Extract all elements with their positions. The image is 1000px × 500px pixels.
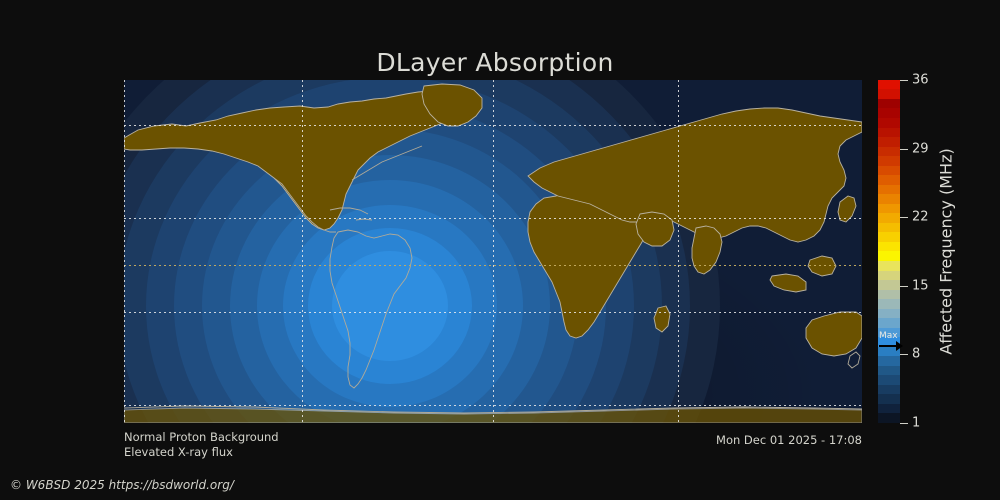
colorbar-segment: [878, 156, 900, 166]
colorbar-tick-label: 29: [912, 141, 929, 156]
world-map-panel[interactable]: [124, 80, 862, 423]
colorbar-axis-title-text: Affected Frequency (MHz): [937, 148, 956, 354]
colorbar-tick: [900, 286, 908, 287]
colorbar-tick-label: 1: [912, 416, 920, 431]
colorbar-tick-label: 15: [912, 278, 929, 293]
colorbar-segment: [878, 185, 900, 195]
colorbar-segment: [878, 137, 900, 147]
colorbar-segment: [878, 318, 900, 328]
colorbar-segment: [878, 108, 900, 118]
colorbar-segment: [878, 356, 900, 366]
colorbar-segment: [878, 166, 900, 176]
colorbar-segment: [878, 89, 900, 99]
colorbar-segment: [878, 366, 900, 376]
colorbar-segment: [878, 271, 900, 281]
colorbar-tick: [900, 149, 908, 150]
page-root: DLayer Absorption: [0, 0, 1000, 500]
copyright-notice: © W6BSD 2025 https://bsdworld.org/: [10, 478, 234, 492]
colorbar-gradient: [878, 80, 900, 423]
colorbar-tick-label: 22: [912, 210, 929, 225]
colorbar-axis-title: Affected Frequency (MHz): [934, 80, 958, 423]
colorbar-segment: [878, 261, 900, 271]
colorbar-tick: [900, 217, 908, 218]
colorbar-segment: [878, 80, 900, 90]
colorbar-segment: [878, 347, 900, 357]
colorbar-segment: [878, 213, 900, 223]
colorbar[interactable]: 3629221581: [878, 80, 900, 423]
colorbar-segment: [878, 128, 900, 138]
timestamp-label: Mon Dec 01 2025 - 17:08: [716, 433, 862, 447]
status-proton-background: Normal Proton Background: [124, 430, 279, 444]
colorbar-tick: [900, 423, 908, 424]
colorbar-segment: [878, 232, 900, 242]
colorbar-segment: [878, 328, 900, 338]
colorbar-segment: [878, 242, 900, 252]
coastline-layer: [124, 80, 862, 423]
colorbar-segment: [878, 404, 900, 414]
colorbar-segment: [878, 223, 900, 233]
colorbar-segment: [878, 394, 900, 404]
colorbar-segment: [878, 337, 900, 347]
colorbar-segment: [878, 118, 900, 128]
colorbar-segment: [878, 175, 900, 185]
colorbar-segment: [878, 385, 900, 395]
colorbar-tick-label: 36: [912, 73, 929, 88]
colorbar-tick: [900, 354, 908, 355]
colorbar-segment: [878, 194, 900, 204]
landmass-group: [124, 84, 862, 423]
colorbar-segment: [878, 280, 900, 290]
colorbar-tick: [900, 80, 908, 81]
colorbar-segment: [878, 299, 900, 309]
colorbar-segment: [878, 99, 900, 109]
colorbar-segment: [878, 309, 900, 319]
colorbar-segment: [878, 413, 900, 423]
colorbar-segment: [878, 290, 900, 300]
status-xray-flux: Elevated X-ray flux: [124, 445, 233, 459]
colorbar-segment: [878, 147, 900, 157]
colorbar-segment: [878, 251, 900, 261]
colorbar-segment: [878, 375, 900, 385]
colorbar-segment: [878, 204, 900, 214]
colorbar-tick-label: 8: [912, 347, 920, 362]
page-title: DLayer Absorption: [0, 48, 990, 77]
